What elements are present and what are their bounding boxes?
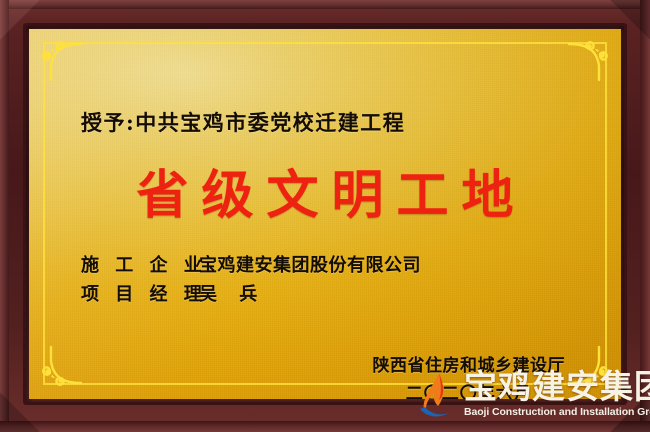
honor-title: 省级文明工地 — [29, 169, 621, 224]
issuer-organization: 陕西省住房和城乡建设厅 — [373, 351, 566, 376]
field-label-project-manager: 项 目 经 理 — [81, 280, 199, 309]
field-row-contractor: 施 工 企 业 宝鸡建安集团股份有限公司 — [81, 251, 421, 280]
field-row-project-manager: 项 目 经 理 吴 兵 — [81, 280, 421, 309]
frame-bevel-left — [0, 0, 9, 432]
field-value-contractor: 宝鸡建安集团股份有限公司 — [199, 251, 421, 280]
field-label-contractor: 施 工 企 业 — [81, 251, 199, 280]
plaque-face: 授予:中共宝鸡市委党校迁建工程 省级文明工地 施 工 企 业 宝鸡建安集团股份有… — [29, 29, 621, 399]
frame-bevel-bottom — [0, 421, 650, 432]
issuer-date: 二〇二〇年六月 — [373, 379, 566, 399]
field-block: 施 工 企 业 宝鸡建安集团股份有限公司 项 目 经 理 吴 兵 — [81, 251, 421, 309]
field-value-project-manager: 吴 兵 — [199, 280, 265, 309]
frame-bevel-right — [640, 0, 650, 432]
certificate-plaque: 授予:中共宝鸡市委党校迁建工程 省级文明工地 施 工 企 业 宝鸡建安集团股份有… — [0, 0, 650, 432]
award-recipient-line: 授予:中共宝鸡市委党校迁建工程 — [81, 107, 405, 137]
issuer-block: 陕西省住房和城乡建设厅 二〇二〇年六月 — [373, 351, 566, 399]
frame-bevel-top — [0, 0, 650, 9]
